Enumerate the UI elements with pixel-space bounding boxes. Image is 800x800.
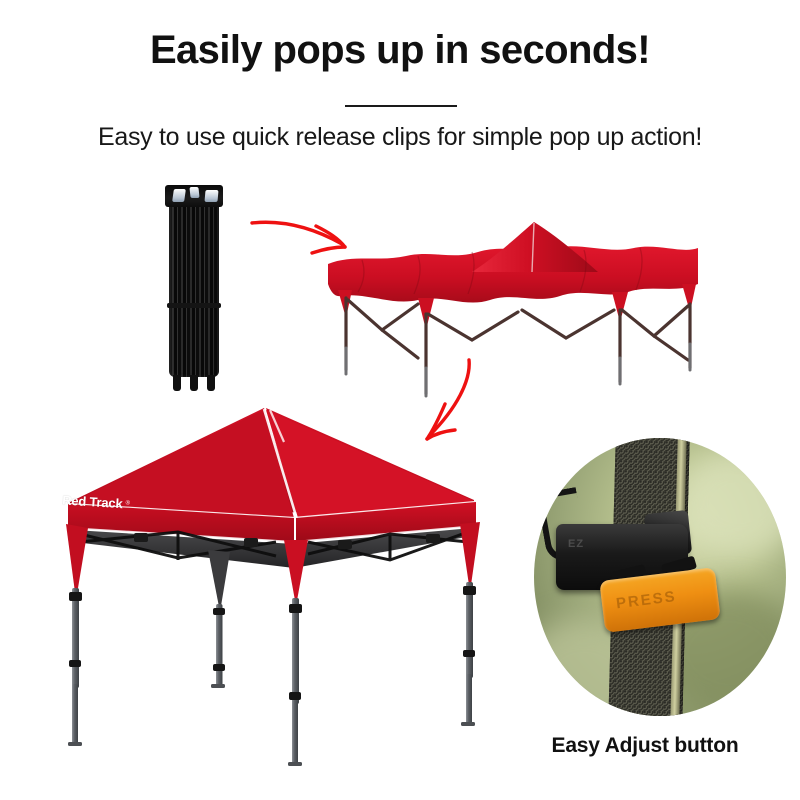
folded-gazebo-frame	[163, 185, 225, 385]
press-button-label: PRESS	[615, 588, 677, 612]
easy-adjust-button-photo: EZ PRESS	[534, 438, 786, 716]
corner-valance-right	[460, 522, 480, 592]
leg-feet	[68, 684, 475, 766]
page-title: Easily pops up in seconds!	[0, 28, 800, 72]
folded-frame-foot	[207, 375, 215, 391]
roof-right-face	[266, 410, 476, 518]
folded-frame-foot	[190, 375, 198, 391]
leg-adjust-collars	[69, 586, 476, 700]
leg-front-right	[466, 582, 473, 678]
roof-left-face	[68, 410, 294, 518]
cap-highlight	[189, 187, 199, 198]
page-subtitle: Easy to use quick release clips for simp…	[0, 123, 800, 152]
leg-back-left	[216, 604, 223, 688]
leg-front-left	[72, 588, 79, 688]
corner-valance-center	[284, 540, 308, 606]
folded-poles	[169, 195, 219, 377]
folded-frame-strap	[167, 303, 221, 308]
fully-open-gazebo	[8, 392, 528, 777]
half-open-gazebo	[322, 218, 702, 398]
gazebo-legs	[72, 582, 473, 766]
infographic-page: Easily pops up in seconds! Easy to use q…	[0, 0, 800, 800]
cap-highlight	[172, 189, 186, 202]
cap-highlight	[204, 190, 218, 202]
corner-valance-back	[208, 550, 230, 612]
folded-frame-foot	[173, 375, 181, 391]
leg-front-center	[292, 598, 299, 704]
title-divider	[345, 105, 457, 107]
photo-caption: Easy Adjust button	[500, 734, 790, 758]
folded-frame-top-cap	[165, 185, 223, 207]
clip-emboss-text: EZ	[568, 538, 584, 550]
